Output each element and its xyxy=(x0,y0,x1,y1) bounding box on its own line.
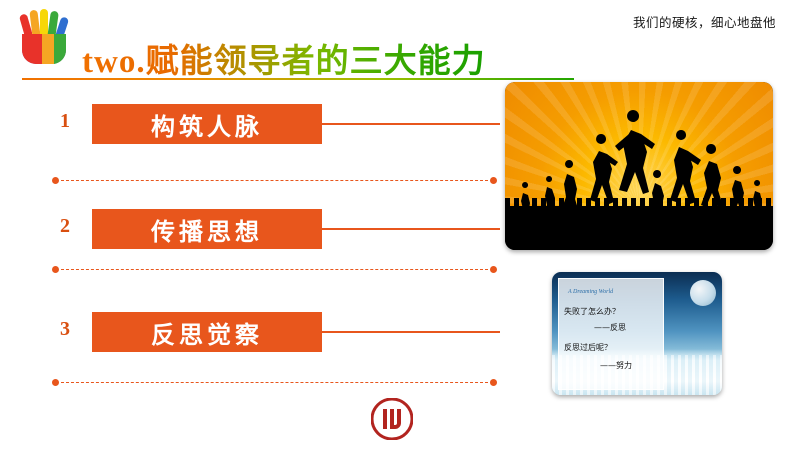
header-note: 我们的硬核，细心地盘他 xyxy=(633,12,776,31)
quote-line-4: ——努力 xyxy=(600,360,632,371)
dash-dot-right xyxy=(490,266,497,273)
footer-brand-logo-icon xyxy=(371,398,413,440)
divider-dashed-2 xyxy=(52,265,497,273)
dash-line xyxy=(61,382,488,383)
quote-line-2: ——反思 xyxy=(594,322,626,333)
divider-dashed-1 xyxy=(52,176,497,184)
title-underline-rule xyxy=(22,78,574,80)
dash-dot-right xyxy=(490,379,497,386)
panel-corner-text: A Dreaming World xyxy=(568,289,613,295)
row-label-box[interactable]: 反思觉察 xyxy=(92,312,322,352)
divider-dashed-3 xyxy=(52,378,497,386)
dash-dot-left xyxy=(52,379,59,386)
waterfall-reflection-photo: A Dreaming World 失败了怎么办？ ——反思 反思过后呢？ ——努… xyxy=(552,272,722,395)
slide-canvas: 我们的硬核，细心地盘他 two.赋能领导者的三大能力 1 构筑人脉 xyxy=(0,0,800,450)
runner-silhouettes xyxy=(505,82,773,250)
row-number: 3 xyxy=(60,318,70,341)
dash-dot-left xyxy=(52,266,59,273)
row-number: 1 xyxy=(60,110,70,133)
colored-hand-logo-icon xyxy=(14,8,76,70)
runners-silhouette-photo xyxy=(505,82,773,250)
list-item[interactable]: 1 构筑人脉 xyxy=(52,104,492,144)
dash-dot-right xyxy=(490,177,497,184)
quote-panel: A Dreaming World xyxy=(558,278,664,390)
row-number: 2 xyxy=(60,215,70,238)
row-label-box[interactable]: 构筑人脉 xyxy=(92,104,322,144)
dash-line xyxy=(61,269,488,270)
quote-line-3: 反思过后呢？ xyxy=(564,342,612,353)
row-tail-line xyxy=(322,331,500,333)
page-title: two.赋能领导者的三大能力 xyxy=(82,34,486,82)
list-item[interactable]: 3 反思觉察 xyxy=(52,312,492,352)
dash-line xyxy=(61,180,488,181)
row-tail-line xyxy=(322,123,500,125)
dash-dot-left xyxy=(52,177,59,184)
row-label-box[interactable]: 传播思想 xyxy=(92,209,322,249)
list-item[interactable]: 2 传播思想 xyxy=(52,209,492,249)
quote-line-1: 失败了怎么办？ xyxy=(564,306,620,317)
moon-icon xyxy=(690,280,716,306)
row-tail-line xyxy=(322,228,500,230)
